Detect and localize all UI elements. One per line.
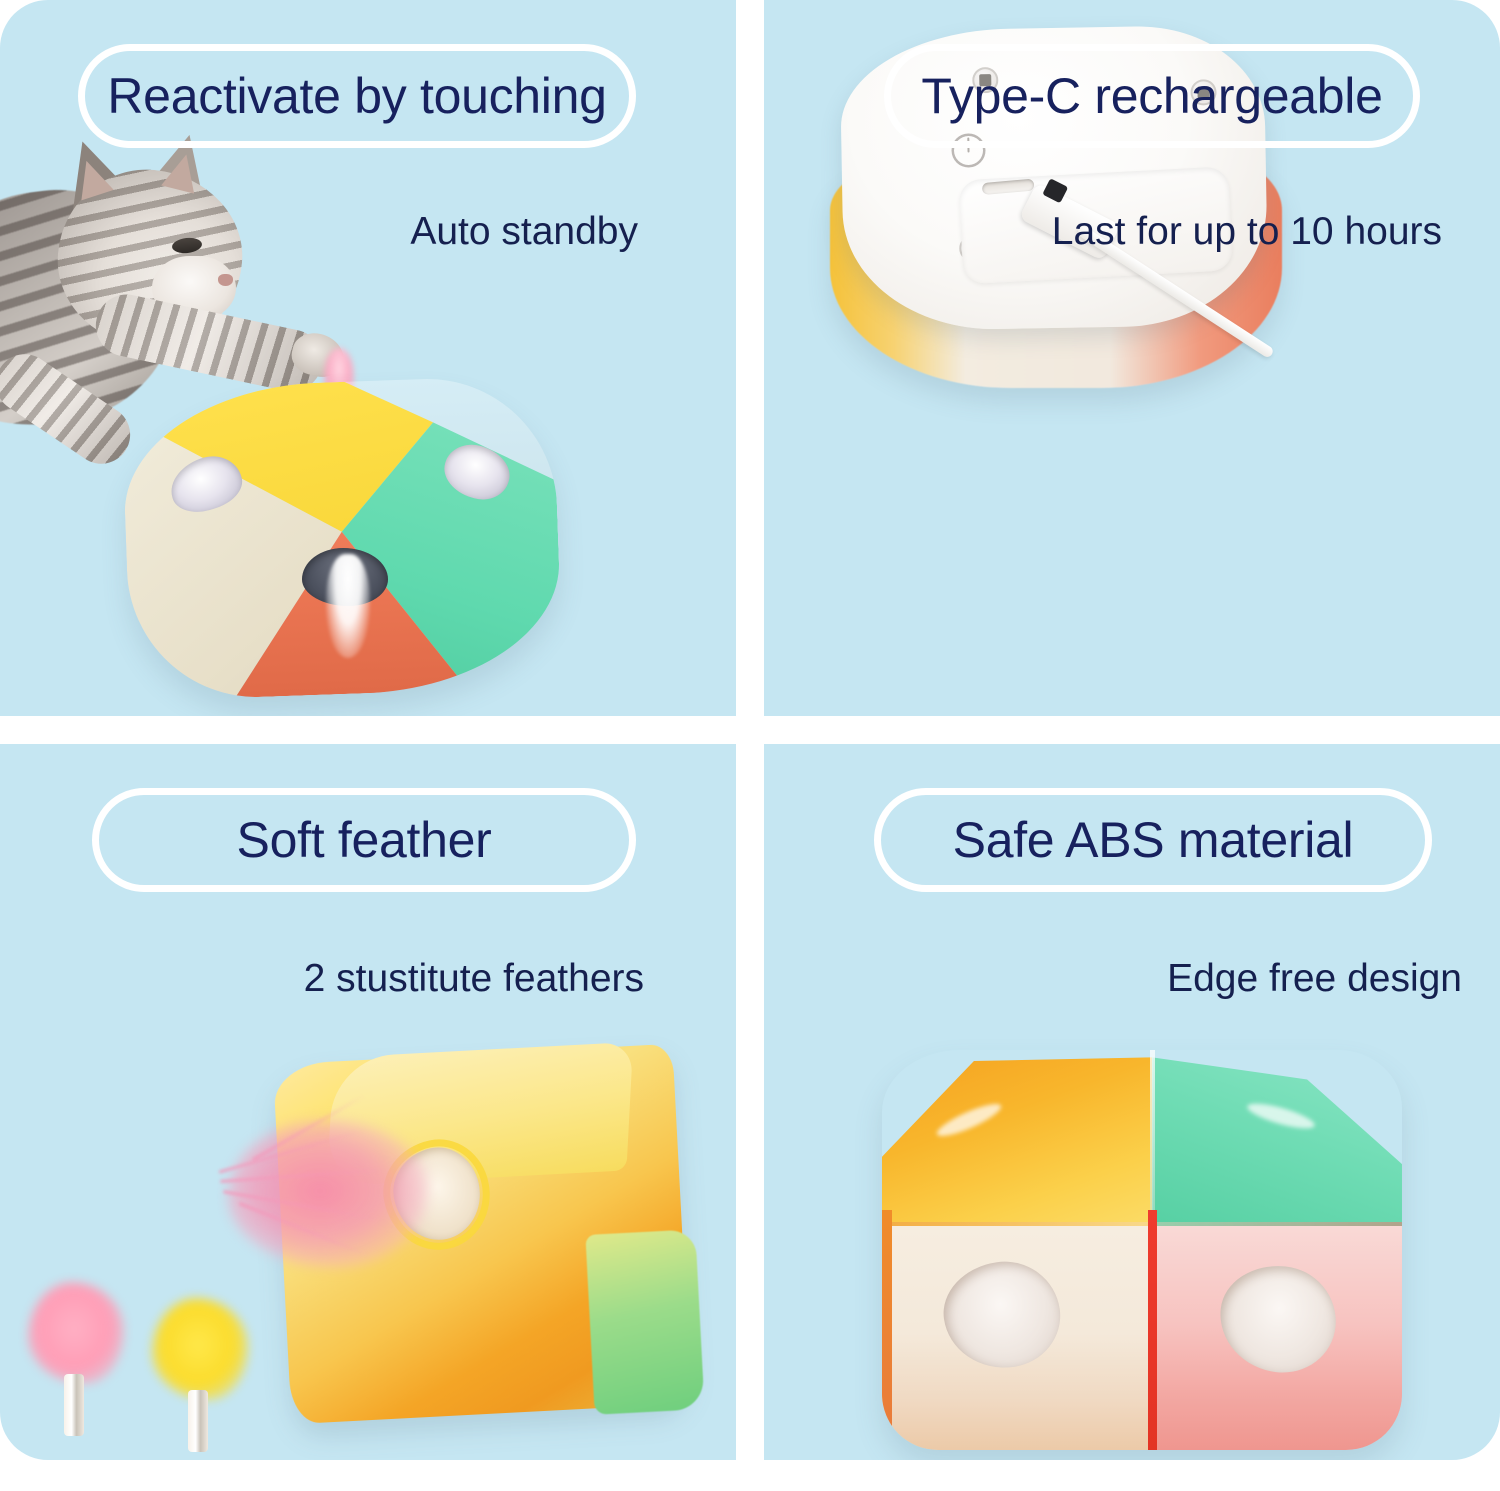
product-feature-infographic: Reactivate by touching Auto standby [0,0,1500,1491]
panel-reactivate-by-touching: Reactivate by touching Auto standby [0,0,736,716]
toy-quadrant-mint [1152,1050,1402,1234]
cat-toy-top-view [126,382,558,694]
panel-heading: Type-C rechargeable [921,71,1382,121]
feather-stem [64,1374,84,1436]
toy-hole-front [302,548,388,606]
toy-panel-green [585,1229,704,1415]
spare-feather-yellow [152,1298,248,1448]
spare-feathers-group [24,1278,260,1438]
toy-seam-line [882,1222,1402,1226]
panel-heading: Reactivate by touching [107,71,606,121]
heading-badge-soft-feather: Soft feather [92,788,636,892]
spare-feather-pink [28,1282,124,1432]
panel-subtext: 2 stustitute feathers [304,959,644,998]
heading-badge-reactivate: Reactivate by touching [78,44,636,148]
feather-plume [152,1298,248,1400]
toy-center-divider-top [1150,1050,1155,1218]
pink-feather-icon [220,1102,450,1282]
toy-shell [121,375,564,702]
toy-center-divider [1148,1210,1157,1450]
cat-nose [218,274,233,286]
heading-badge-safe-abs: Safe ABS material [874,788,1432,892]
panel-safe-abs-material: Safe ABS material Edge free design [764,744,1500,1460]
panel-heading: Soft feather [237,815,492,865]
toy-shell [882,1050,1402,1450]
feather-plume [28,1282,124,1384]
cat-toy-front-view [882,1050,1402,1450]
panel-subtext: Edge free design [1167,959,1462,998]
panel-heading: Safe ABS material [953,815,1354,865]
toy-edge-left [882,1210,892,1450]
panel-soft-feather: Soft feather 2 stustitute feathers [0,744,736,1460]
toy-quadrant-amber [882,1050,1152,1234]
feather-stem [188,1390,208,1452]
panel-type-c-rechargeable: Type-C rechargeable Last for up to 10 ho… [764,0,1500,716]
heading-badge-type-c: Type-C rechargeable [884,44,1420,148]
panel-subtext: Last for up to 10 hours [1052,212,1442,251]
panel-subtext: Auto standby [410,212,638,251]
cat-toy-closeup [222,1044,692,1460]
